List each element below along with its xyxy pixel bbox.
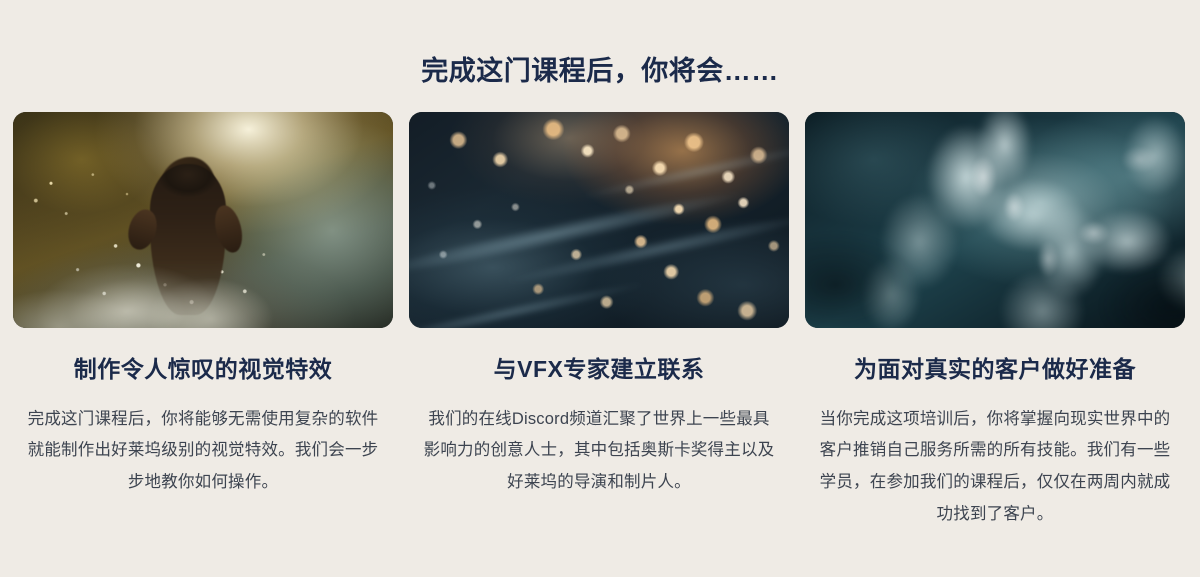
artwork-teal-smoke (805, 112, 1185, 328)
benefit-card-body: 我们的在线Discord频道汇聚了世界上一些最具影响力的创意人士，其中包括奥斯卡… (421, 404, 777, 499)
benefit-card-image-runner (13, 112, 393, 328)
benefit-card: 制作令人惊叹的视觉特效 完成这门课程后，你将能够无需使用复杂的软件就能制作出好莱… (13, 112, 393, 547)
runner-right-arm-shape (211, 202, 246, 254)
course-benefits-section: 完成这门课程后，你将会…… 制作令人惊叹的视觉特效 完成这门课程后，你将能够无需… (0, 22, 1200, 577)
benefit-card-title: 制作令人惊叹的视觉特效 (74, 355, 333, 384)
benefit-card: 为面对真实的客户做好准备 当你完成这项培训后，你将掌握向现实世界中的客户推销自己… (805, 112, 1185, 547)
benefit-card: 与VFX专家建立联系 我们的在线Discord频道汇聚了世界上一些最具影响力的创… (409, 112, 789, 547)
artwork-runner-in-water (13, 112, 393, 328)
runner-body-shape (150, 164, 226, 315)
section-heading: 完成这门课程后，你将会…… (0, 22, 1200, 87)
benefit-card-title: 为面对真实的客户做好准备 (854, 355, 1136, 384)
benefit-card-image-smoke (805, 112, 1185, 328)
benefit-card-body: 完成这门课程后，你将能够无需使用复杂的软件就能制作出好莱坞级别的视觉特效。我们会… (25, 404, 381, 499)
artwork-ember-particles (409, 112, 789, 328)
benefit-card-body: 当你完成这项培训后，你将掌握向现实世界中的客户推销自己服务所需的所有技能。我们有… (817, 404, 1173, 531)
benefit-card-image-embers (409, 112, 789, 328)
benefit-card-title: 与VFX专家建立联系 (494, 355, 705, 384)
benefit-card-grid: 制作令人惊叹的视觉特效 完成这门课程后，你将能够无需使用复杂的软件就能制作出好莱… (0, 112, 1200, 547)
